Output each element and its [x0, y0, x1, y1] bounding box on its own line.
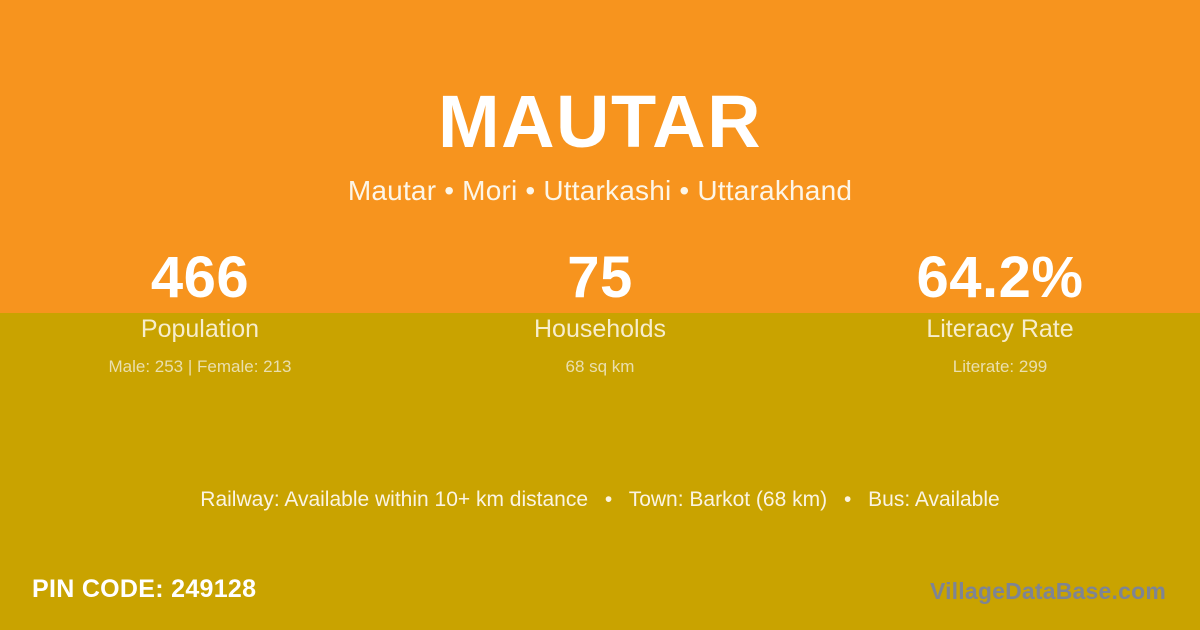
stat-households: 75 Households 68 sq km: [400, 245, 800, 379]
stat-population: 466 Population Male: 253 | Female: 213: [0, 245, 400, 379]
breadcrumb: Mautar • Mori • Uttarkashi • Uttarakhand: [0, 162, 1200, 208]
infra-bus: Bus: Available: [868, 488, 1000, 511]
infra-railway: Railway: Available within 10+ km distanc…: [200, 488, 588, 511]
stat-detail: Male: 253 | Female: 213: [0, 345, 400, 379]
card-header: MAUTAR Mautar • Mori • Uttarkashi • Utta…: [0, 0, 1200, 208]
infra-separator-2: •: [833, 488, 862, 511]
infra-separator-1: •: [594, 488, 623, 511]
stat-label: Literacy Rate: [800, 311, 1200, 345]
stat-literacy-rate: 64.2% Literacy Rate Literate: 299: [800, 245, 1200, 379]
stat-label: Households: [400, 311, 800, 345]
stat-detail: Literate: 299: [800, 345, 1200, 379]
page-title: MAUTAR: [0, 0, 1200, 162]
stat-value: 64.2%: [800, 245, 1200, 311]
pin-code-label: PIN CODE: 249128: [32, 572, 256, 606]
stats-row: 466 Population Male: 253 | Female: 213 7…: [0, 245, 1200, 379]
stat-detail: 68 sq km: [400, 345, 800, 379]
village-info-card: MAUTAR Mautar • Mori • Uttarkashi • Utta…: [0, 0, 1200, 630]
infra-town: Town: Barkot (68 km): [629, 488, 827, 511]
site-watermark: VillageDataBase.com: [930, 575, 1166, 607]
card-footer: PIN CODE: 249128 VillageDataBase.com: [0, 572, 1200, 612]
stat-value: 466: [0, 245, 400, 311]
stat-label: Population: [0, 311, 400, 345]
stat-value: 75: [400, 245, 800, 311]
infrastructure-line: Railway: Available within 10+ km distanc…: [0, 486, 1200, 514]
